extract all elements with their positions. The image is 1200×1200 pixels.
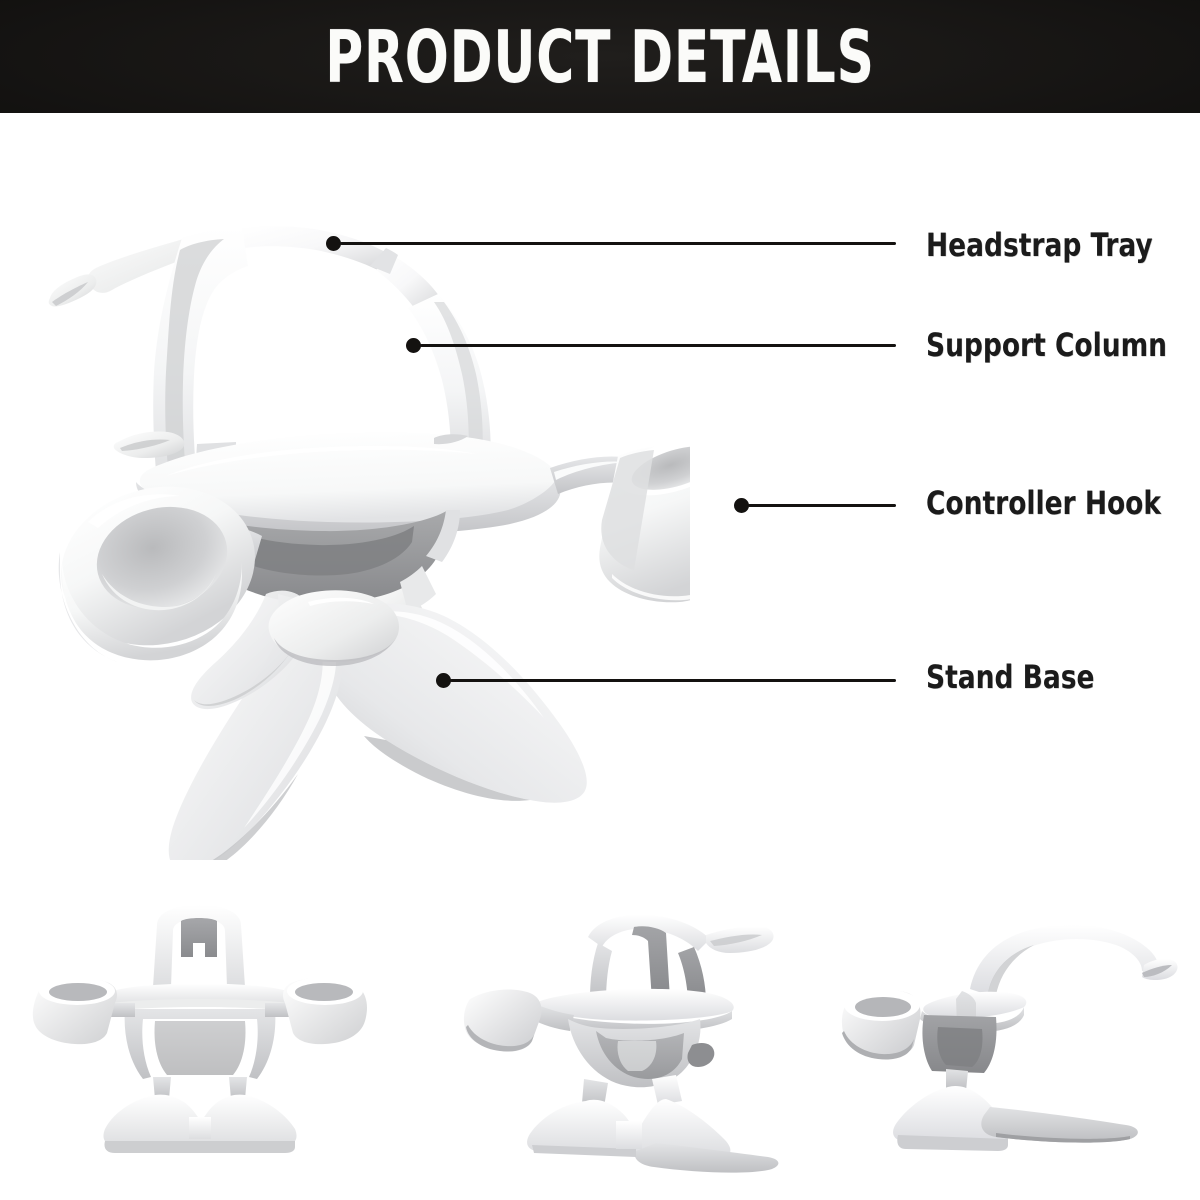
leader-dot-headstrap-tray	[326, 236, 341, 251]
thumbnail-row	[0, 895, 1200, 1200]
leader-dot-controller-hook	[734, 498, 749, 513]
page-title: PRODUCT DETAILS	[120, 18, 1080, 96]
callout-label-support-column: Support Column	[926, 328, 1167, 362]
leader-dot-stand-base	[436, 673, 451, 688]
header-bar: PRODUCT DETAILS	[0, 0, 1200, 113]
leader-line-headstrap-tray	[340, 242, 896, 245]
stand-base-part	[169, 590, 587, 860]
leader-line-controller-hook	[748, 504, 896, 507]
thumbnail-three-quarter-view[interactable]	[420, 895, 810, 1200]
front-view-svg	[5, 895, 395, 1200]
thumbnail-front-view[interactable]	[5, 895, 395, 1200]
callout-label-controller-hook: Controller Hook	[926, 486, 1161, 520]
side-view-svg	[820, 895, 1195, 1200]
hero-product-image	[30, 170, 690, 860]
three-quarter-view-svg	[420, 895, 810, 1200]
callout-label-stand-base: Stand Base	[926, 660, 1094, 694]
product-details-page: PRODUCT DETAILS	[0, 0, 1200, 1200]
leader-line-support-column	[420, 344, 896, 347]
controller-hook-right	[550, 425, 690, 602]
hero-product-svg	[30, 170, 690, 860]
leader-dot-support-column	[406, 338, 421, 353]
callout-label-headstrap-tray: Headstrap Tray	[926, 228, 1153, 262]
thumbnail-side-view[interactable]	[820, 895, 1195, 1200]
leader-line-stand-base	[450, 679, 896, 682]
